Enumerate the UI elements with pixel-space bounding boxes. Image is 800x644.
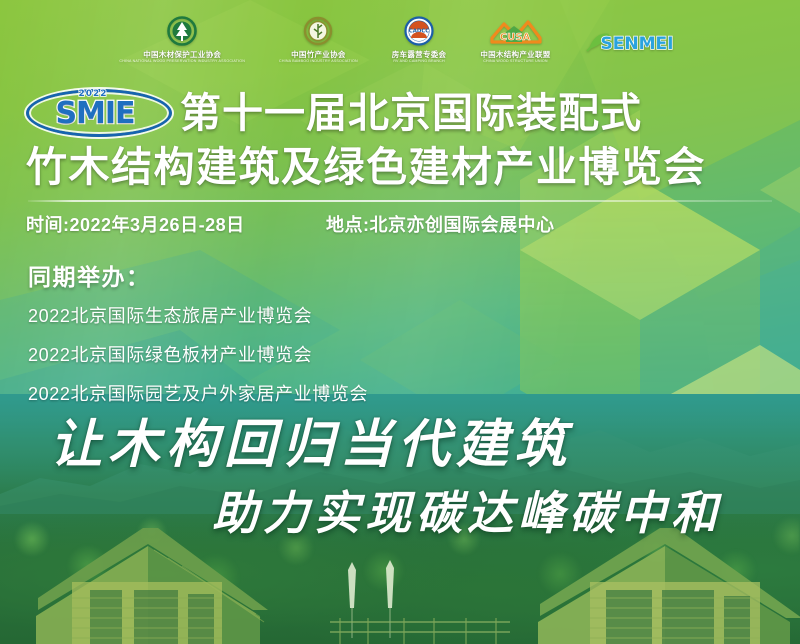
slogan-block: 让木构回归当代建筑 助力实现碳达峰碳中和 bbox=[0, 414, 800, 544]
title-line-1-row: 2022 SMIE 第十一届北京国际装配式 bbox=[26, 86, 774, 140]
senmei-leaf-wordmark-icon: SENMEI bbox=[585, 29, 681, 55]
logo-bamboo: 中国竹产业协会 CHINA BAMBOO INDUSTRY ASSOCIATIO… bbox=[279, 16, 358, 63]
cadcc-badge-icon: CADCC bbox=[400, 16, 438, 50]
pine-tree-shield-icon bbox=[163, 16, 201, 50]
logo-senmei: SENMEI bbox=[585, 29, 681, 55]
slogan-line-1: 让木构回归当代建筑 bbox=[30, 414, 770, 476]
event-venue: 地点:北京亦创国际会展中心 bbox=[326, 211, 555, 237]
logo-cnwpia-sublabel: CHINA NATIONAL WOOD PRESERVATION INDUSTR… bbox=[119, 59, 245, 63]
event-meta: 时间:2022年3月26日-28日 地点:北京亦创国际会展中心 bbox=[26, 211, 774, 237]
logo-bamboo-sublabel: CHINA BAMBOO INDUSTRY ASSOCIATION bbox=[279, 59, 358, 63]
logo-bamboo-label: 中国竹产业协会 bbox=[291, 51, 346, 59]
page-title-line-1: 第十一届北京国际装配式 bbox=[180, 90, 642, 136]
bamboo-medal-icon bbox=[299, 16, 337, 50]
slogan-line-2: 助力实现碳达峰碳中和 bbox=[30, 482, 770, 544]
logo-cadcc-label: 房车露营专委会 bbox=[392, 51, 447, 59]
event-date: 时间:2022年3月26日-28日 bbox=[26, 211, 326, 237]
logo-cnwpia-label: 中国木材保护工业协会 bbox=[143, 51, 221, 59]
exhibition-poster: 中国木材保护工业协会 CHINA NATIONAL WOOD PRESERVAT… bbox=[0, 0, 800, 644]
smie-logo-wordmark: SMIE bbox=[26, 99, 164, 129]
page-title-line-2: 竹木结构建筑及绿色建材产业博览会 bbox=[26, 142, 774, 192]
concurrent-events-list: 2022北京国际生态旅居产业博览会 2022北京国际绿色板材产业博览会 2022… bbox=[28, 306, 368, 404]
logo-cnwpia: 中国木材保护工业协会 CHINA NATIONAL WOOD PRESERVAT… bbox=[119, 16, 245, 63]
list-item: 2022北京国际绿色板材产业博览会 bbox=[28, 345, 368, 365]
house-roof-icon: CUSA bbox=[486, 16, 544, 50]
list-item: 2022北京国际园艺及户外家居产业博览会 bbox=[28, 384, 368, 404]
concurrent-events-heading: 同期举办： bbox=[28, 258, 368, 292]
poster-header: 2022 SMIE 第十一届北京国际装配式 竹木结构建筑及绿色建材产业博览会 时… bbox=[0, 86, 800, 237]
smie-logo: 2022 SMIE bbox=[26, 87, 172, 139]
logo-cadcc-sublabel: RV AND CAMPING BRANCH bbox=[393, 59, 444, 63]
title-divider bbox=[28, 200, 772, 202]
concurrent-events-block: 同期举办： 2022北京国际生态旅居产业博览会 2022北京国际绿色板材产业博览… bbox=[28, 258, 368, 423]
logo-cusa: CUSA 中国木结构产业联盟 CHINA WOOD STRUCTURE UNIO… bbox=[480, 16, 550, 63]
logo-cusa-sublabel: CHINA WOOD STRUCTURE UNION bbox=[483, 59, 548, 63]
svg-text:SENMEI: SENMEI bbox=[600, 34, 673, 54]
svg-text:CUSA: CUSA bbox=[500, 32, 531, 43]
logo-cusa-label: 中国木结构产业联盟 bbox=[480, 51, 550, 59]
list-item: 2022北京国际生态旅居产业博览会 bbox=[28, 306, 368, 326]
logo-cadcc: CADCC 房车露营专委会 RV AND CAMPING BRANCH bbox=[392, 16, 447, 63]
organizer-logo-strip: 中国木材保护工业协会 CHINA NATIONAL WOOD PRESERVAT… bbox=[0, 8, 800, 70]
